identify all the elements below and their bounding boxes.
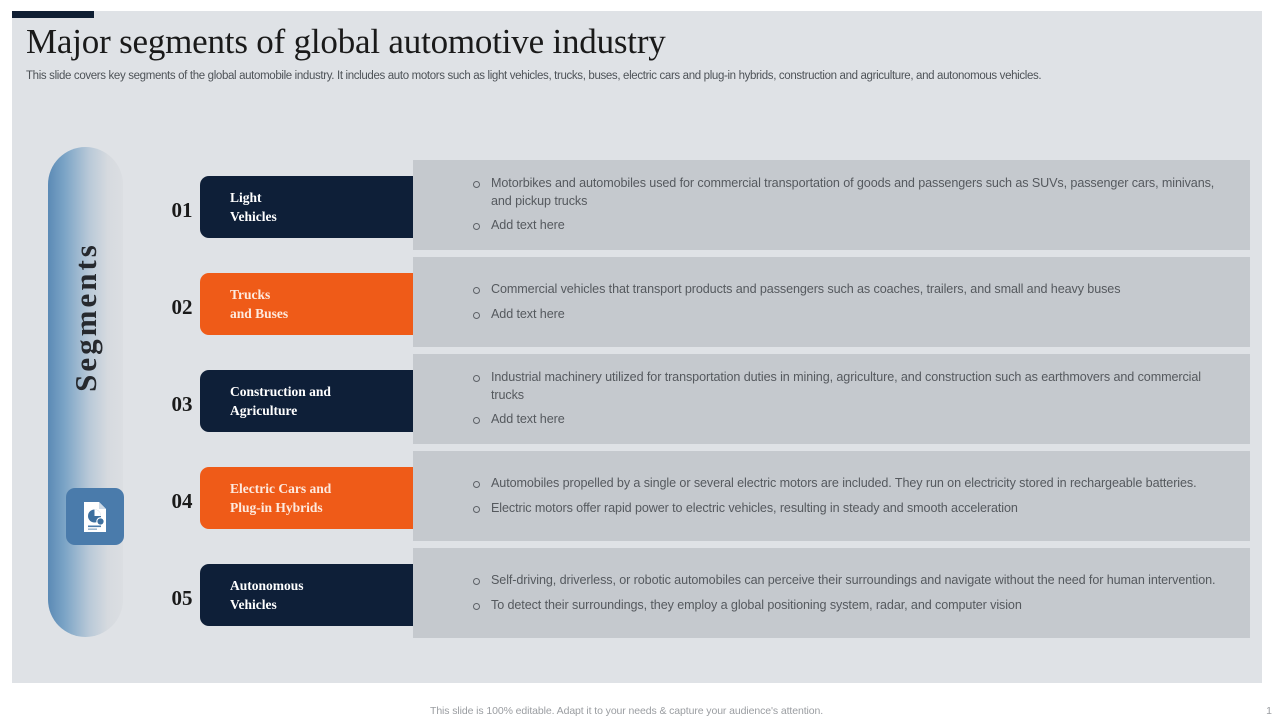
segment-number: 02 [160,295,204,320]
bullet-text: Add text here [491,306,565,324]
bullet-circle-icon [473,578,480,585]
bullet-item: Add text here [431,217,1222,235]
segment-chip[interactable]: Electric Cars and Plug-in Hybrids [200,467,445,529]
segment-row-04[interactable]: 04 Electric Cars and Plug-in Hybrids Aut… [160,467,1250,533]
bullet-item: Motorbikes and automobiles used for comm… [431,175,1222,211]
bullet-circle-icon [473,417,480,424]
document-pie-chart-icon [66,488,124,545]
segment-chip[interactable]: Autonomous Vehicles [200,564,445,626]
segment-chip[interactable]: Light Vehicles [200,176,445,238]
bullet-circle-icon [473,181,480,188]
bullet-item: Add text here [431,306,1222,324]
page-number: 1 [1266,705,1272,717]
segment-row-03[interactable]: 03 Construction and Agriculture Industri… [160,370,1250,436]
bullet-text: Self-driving, driverless, or robotic aut… [491,572,1215,590]
bullet-circle-icon [473,223,480,230]
corner-accent-bar [12,11,94,18]
segment-number: 01 [160,198,204,223]
bullet-item: Automobiles propelled by a single or sev… [431,475,1222,493]
bullet-item: To detect their surroundings, they emplo… [431,597,1222,615]
slide-canvas: Major segments of global automotive indu… [0,0,1280,720]
bullet-item: Industrial machinery utilized for transp… [431,369,1222,405]
segment-description: Motorbikes and automobiles used for comm… [413,160,1250,250]
segment-chip[interactable]: Construction and Agriculture [200,370,445,432]
segment-description: Automobiles propelled by a single or sev… [413,451,1250,541]
page-subtitle: This slide covers key segments of the gl… [26,70,1226,82]
segment-number: 04 [160,489,204,514]
bullet-text: Add text here [491,217,565,235]
bullet-circle-icon [473,481,480,488]
bullet-circle-icon [473,312,480,319]
segment-number: 03 [160,392,204,417]
bullet-circle-icon [473,603,480,610]
segment-chip[interactable]: Trucks and Buses [200,273,445,335]
bullet-text: Industrial machinery utilized for transp… [491,369,1222,405]
slide-header: Major segments of global automotive indu… [26,24,1226,82]
bullet-text: To detect their surroundings, they emplo… [491,597,1022,615]
bullet-text: Add text here [491,411,565,429]
bullet-circle-icon [473,375,480,382]
sidebar-gradient-pill [48,147,123,637]
bullet-text: Electric motors offer rapid power to ele… [491,500,1018,518]
segment-row-05[interactable]: 05 Autonomous Vehicles Self-driving, dri… [160,564,1250,630]
bullet-item: Commercial vehicles that transport produ… [431,281,1222,299]
page-title: Major segments of global automotive indu… [26,24,1226,61]
bullet-circle-icon [473,506,480,513]
bullet-item: Electric motors offer rapid power to ele… [431,500,1222,518]
segment-description: Commercial vehicles that transport produ… [413,257,1250,347]
bullet-circle-icon [473,287,480,294]
bullet-text: Automobiles propelled by a single or sev… [491,475,1196,493]
bullet-item: Self-driving, driverless, or robotic aut… [431,572,1222,590]
segment-row-01[interactable]: 01 Light Vehicles Motorbikes and automob… [160,176,1250,242]
footer-note: This slide is 100% editable. Adapt it to… [430,705,823,717]
segment-description: Self-driving, driverless, or robotic aut… [413,548,1250,638]
bullet-text: Commercial vehicles that transport produ… [491,281,1120,299]
bullet-text: Motorbikes and automobiles used for comm… [491,175,1222,211]
segment-row-02[interactable]: 02 Trucks and Buses Commercial vehicles … [160,273,1250,339]
bullet-item: Add text here [431,411,1222,429]
segment-number: 05 [160,586,204,611]
segment-description: Industrial machinery utilized for transp… [413,354,1250,444]
